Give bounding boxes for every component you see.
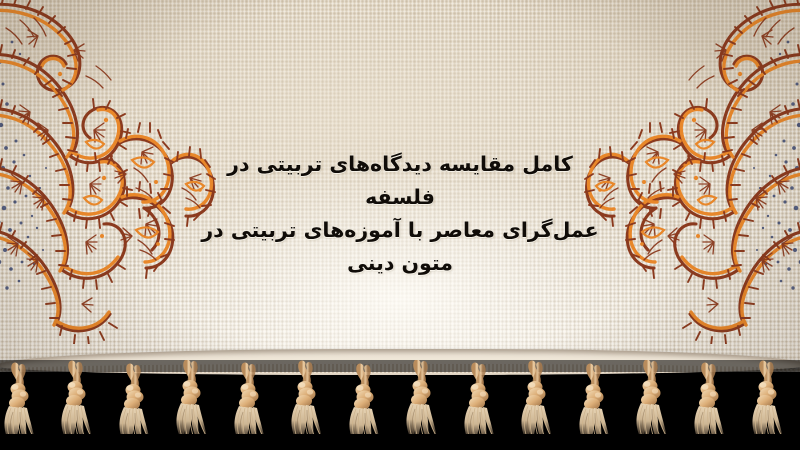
title-line-2: عمل‌گرای معاصر با آموزه‌های تربیتی در [200,214,600,247]
bottom-black-area [0,434,800,450]
title-card: کامل مقایسه دیدگاه‌های تربیتی در فلسفه ع… [0,0,800,450]
title-line-3: متون دینی [200,247,600,280]
page-title: کامل مقایسه دیدگاه‌های تربیتی در فلسفه ع… [200,148,600,280]
fabric-panel: کامل مقایسه دیدگاه‌های تربیتی در فلسفه ع… [0,0,800,372]
title-block: کامل مقایسه دیدگاه‌های تربیتی در فلسفه ع… [0,148,800,280]
title-line-1: کامل مقایسه دیدگاه‌های تربیتی در فلسفه [200,148,600,214]
